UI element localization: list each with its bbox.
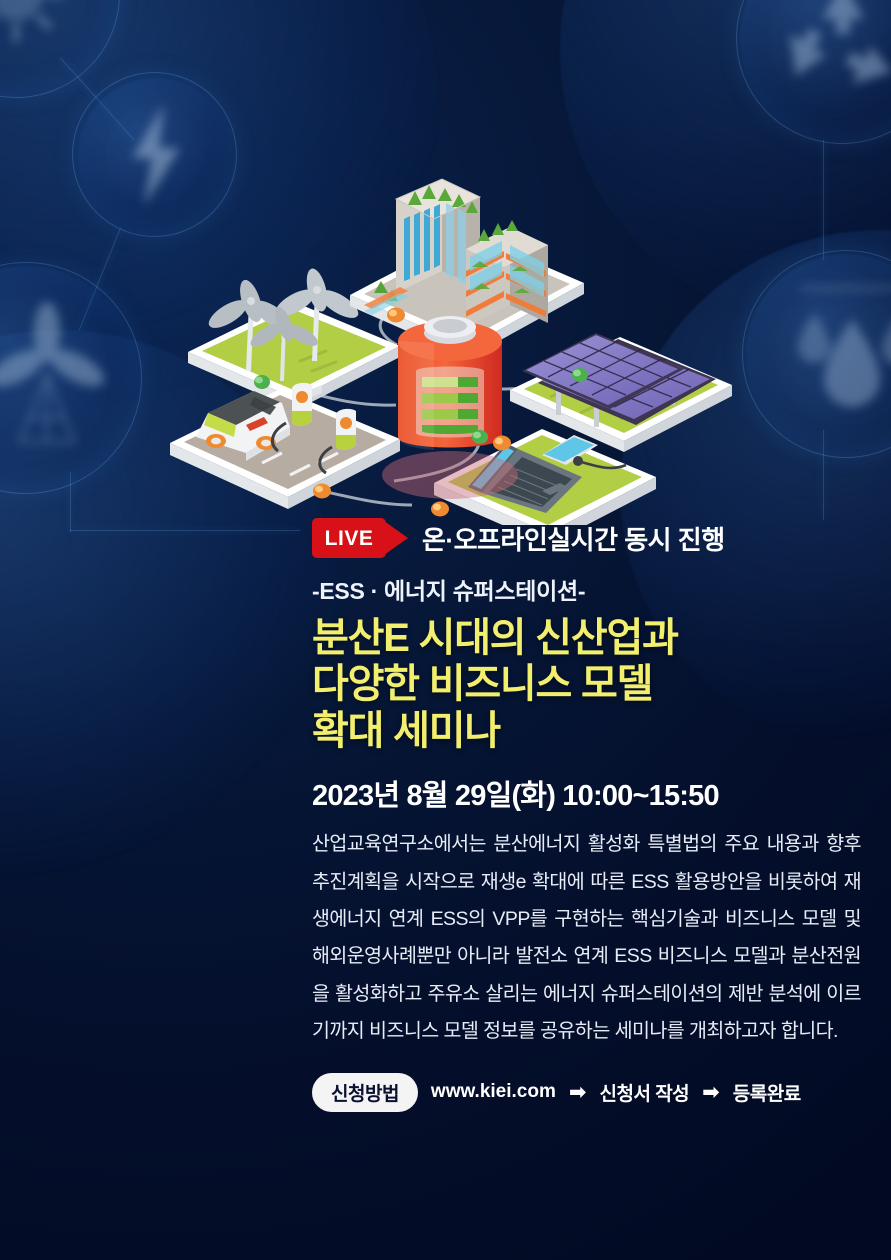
recycle-icon	[778, 0, 891, 102]
water-drop-icon	[790, 285, 891, 425]
live-badge: LIVE	[312, 518, 386, 558]
title-line-2: 다양한 비즈니스 모델	[312, 661, 861, 707]
connector-line	[70, 530, 300, 531]
apply-url[interactable]: www.kiei.com	[431, 1081, 556, 1103]
apply-step-1: 신청서 작성	[599, 1079, 689, 1106]
poster-content: LIVE 온·오프라인실시간 동시 진행 -ESS · 에너지 슈퍼스테이션- …	[312, 516, 861, 1112]
live-text: 온·오프라인실시간 동시 진행	[422, 520, 725, 557]
event-datetime: 2023년 8월 29일(화) 10:00~15:50	[312, 772, 861, 814]
live-row: LIVE 온·오프라인실시간 동시 진행	[312, 516, 861, 560]
arrow-right-icon: ➡	[702, 1082, 720, 1103]
event-description: 산업교육연구소에서는 분산에너지 활성화 특별법의 주요 내용과 향후 추진계획…	[312, 826, 861, 1051]
title-line-3: 확대 세미나	[312, 708, 861, 754]
poster-root: LIVE 온·오프라인실시간 동시 진행 -ESS · 에너지 슈퍼스테이션- …	[0, 0, 891, 1260]
central-battery	[382, 316, 518, 499]
live-badge-label: LIVE	[325, 528, 374, 549]
poster-subtitle: -ESS · 에너지 슈퍼스테이션-	[312, 572, 861, 606]
connector-line	[823, 140, 824, 260]
sun-icon	[0, 0, 76, 54]
poster-title: 분산E 시대의 신산업과 다양한 비즈니스 모델 확대 세미나	[312, 615, 861, 754]
ev-charging-platform	[170, 383, 400, 509]
distributed-energy-illustration	[150, 175, 750, 525]
apply-method-pill: 신청방법	[312, 1073, 418, 1112]
wind-turbine-icon	[0, 290, 112, 450]
apply-step-2: 등록완료	[733, 1079, 801, 1106]
arrow-right-icon: ➡	[569, 1082, 587, 1103]
apply-method-row: 신청방법 www.kiei.com ➡ 신청서 작성 ➡ 등록완료	[312, 1073, 861, 1112]
title-line-1: 분산E 시대의 신산업과	[312, 615, 861, 661]
